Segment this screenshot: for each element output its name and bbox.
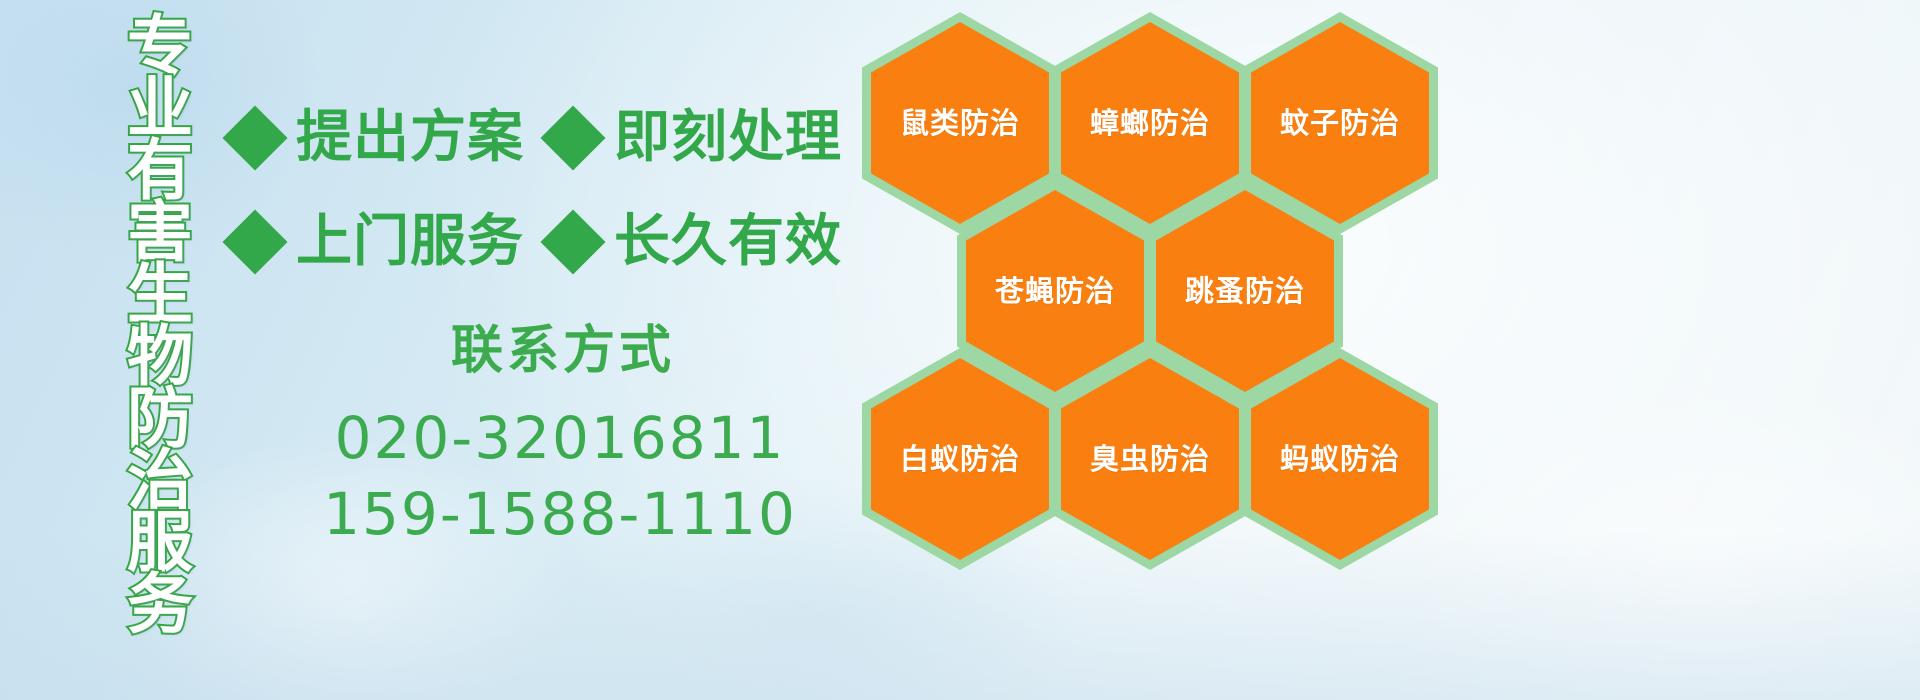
vertical-headline-char: 物 [127, 326, 193, 388]
service-label: 臭虫防治 [1090, 443, 1210, 475]
vertical-headline-char: 专 [127, 16, 193, 78]
vertical-headline: 专 业 有 害 生 物 防 治 服 务 [108, 16, 212, 562]
vertical-headline-char: 务 [127, 574, 193, 636]
service-label: 蚊子防治 [1280, 107, 1400, 139]
vertical-headline-char: 防 [127, 388, 193, 450]
vertical-headline-char: 有 [127, 140, 193, 202]
feature-label: 即刻处理 [614, 109, 842, 167]
contact-block: 联系方式 020-32016811 159-1588-1110 [300, 318, 820, 552]
pest-control-banner: 专 业 有 害 生 物 防 治 服 务 提出方案 即刻处理 上门服务 [0, 0, 1920, 700]
feature-item-immediate-handling: 即刻处理 [550, 109, 842, 167]
feature-row-1: 提出方案 即刻处理 [232, 86, 872, 190]
diamond-icon [540, 209, 605, 274]
contact-landline-number[interactable]: 020-32016811 [300, 400, 820, 476]
feature-label: 提出方案 [296, 109, 524, 167]
vertical-headline-char: 业 [127, 78, 193, 140]
service-label: 鼠类防治 [900, 107, 1020, 139]
vertical-headline-char: 服 [127, 512, 193, 574]
diamond-icon [540, 105, 605, 170]
feature-list: 提出方案 即刻处理 上门服务 长久有效 [232, 86, 872, 294]
diamond-icon [222, 105, 287, 170]
service-label: 蚂蚁防治 [1280, 443, 1400, 475]
feature-label: 长久有效 [614, 213, 842, 271]
service-label: 苍蝇防治 [995, 275, 1115, 307]
contact-title: 联系方式 [306, 318, 820, 384]
service-label: 跳蚤防治 [1185, 275, 1305, 307]
vertical-headline-char: 生 [127, 264, 193, 326]
service-hexagon-grid: 鼠类防治 蟑螂防治 蚊子防治 苍蝇防治 跳蚤防治 白蚁防治 臭虫防治 [862, 8, 1482, 556]
feature-row-2: 上门服务 长久有效 [232, 190, 872, 294]
contact-mobile-number[interactable]: 159-1588-1110 [300, 476, 820, 552]
vertical-headline-char: 治 [127, 450, 193, 512]
feature-item-propose-plan: 提出方案 [232, 109, 524, 167]
vertical-headline-char: 害 [127, 202, 193, 264]
diamond-icon [222, 209, 287, 274]
service-label: 蟑螂防治 [1090, 107, 1210, 139]
feature-item-door-to-door-service: 上门服务 [232, 213, 524, 271]
feature-label: 上门服务 [296, 213, 524, 271]
service-label: 白蚁防治 [900, 443, 1020, 475]
feature-item-long-lasting-effect: 长久有效 [550, 213, 842, 271]
